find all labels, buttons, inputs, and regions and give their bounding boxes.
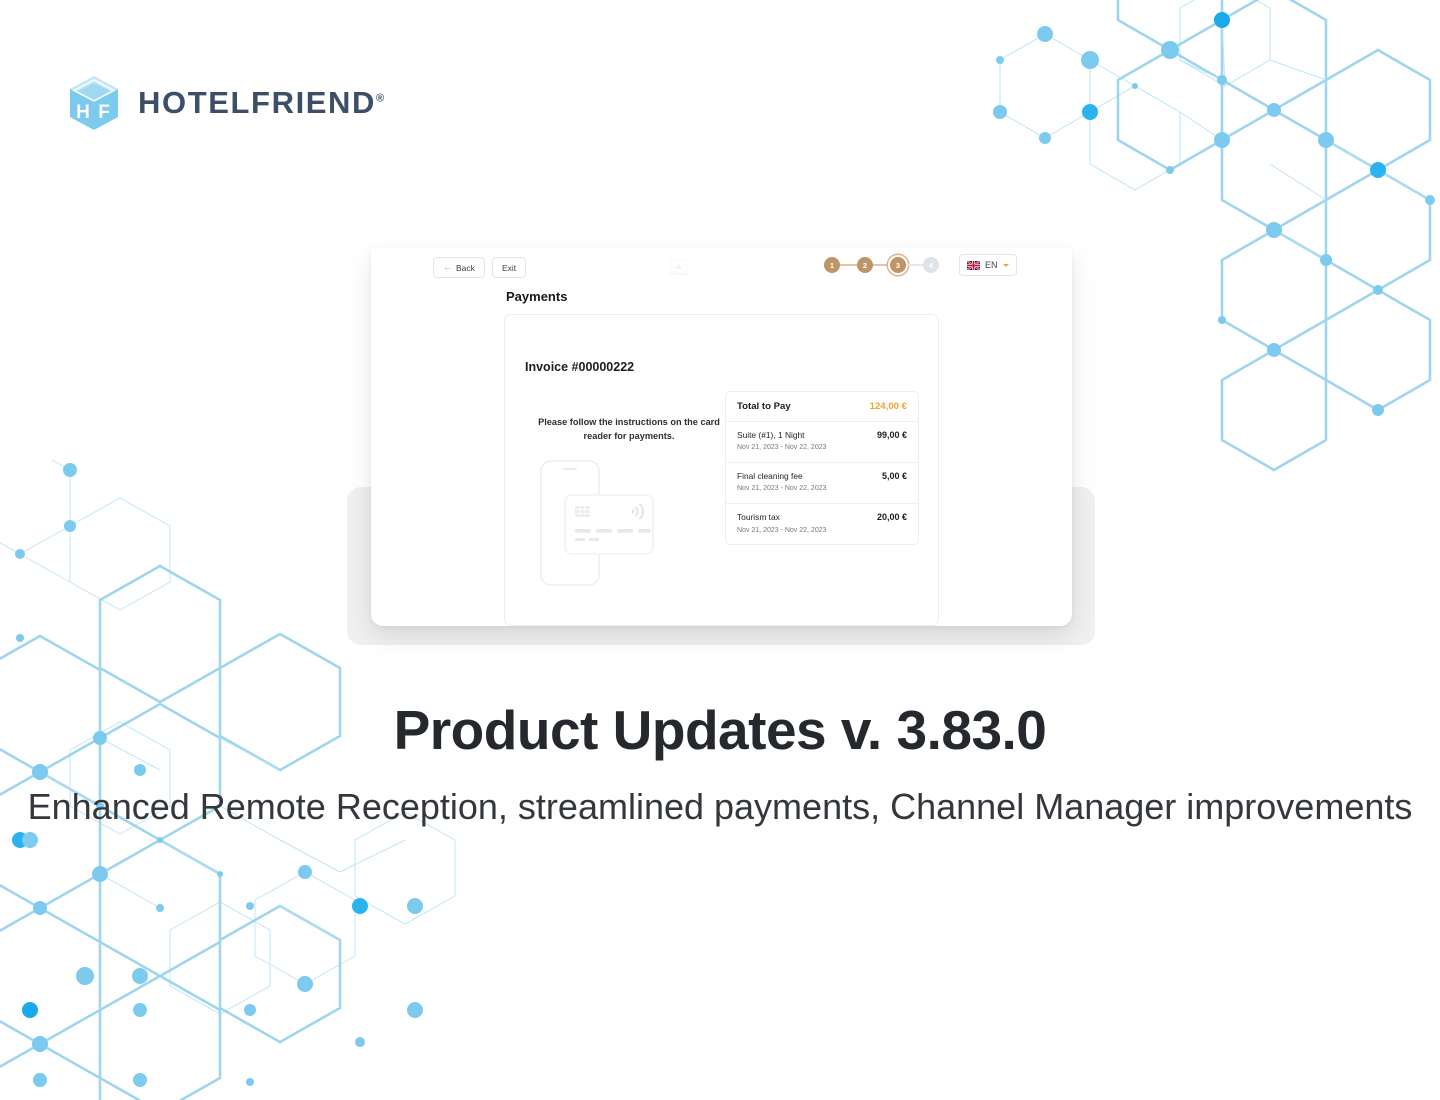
hotelfriend-cube-icon: H F bbox=[66, 74, 122, 132]
line-item-description: Final cleaning fee Nov 21, 2023 - Nov 22… bbox=[737, 471, 833, 494]
invoice-line-item: Tourism tax Nov 21, 2023 - Nov 22, 2023 … bbox=[726, 503, 918, 544]
total-to-pay-label: Total to Pay bbox=[737, 401, 791, 412]
line-item-price: 99,00 € bbox=[877, 430, 907, 440]
line-item-name: Suite (#1), 1 Night bbox=[737, 430, 827, 441]
stepper-step-1-label: 1 bbox=[830, 261, 834, 270]
arrow-left-icon: ← bbox=[443, 263, 452, 272]
brand-wordmark: HOTELFRIEND® bbox=[138, 85, 384, 121]
svg-text:H: H bbox=[76, 102, 90, 123]
line-item-dates: Nov 21, 2023 - Nov 22, 2023 bbox=[737, 484, 827, 494]
line-item-name: Tourism tax bbox=[737, 512, 827, 523]
app-toolbar: ← Back Exit 1 2 3 bbox=[371, 248, 1072, 290]
checkout-stepper: 1 2 3 4 bbox=[824, 257, 939, 273]
back-button-label: Back bbox=[456, 263, 475, 273]
stepper-step-4[interactable]: 4 bbox=[923, 257, 939, 273]
registered-mark: ® bbox=[376, 93, 384, 105]
exit-button-label: Exit bbox=[502, 263, 516, 273]
headline-block: Product Updates v. 3.83.0 Enhanced Remot… bbox=[0, 700, 1440, 830]
phone-with-contactless-card-icon bbox=[539, 457, 657, 589]
line-item-dates: Nov 21, 2023 - Nov 22, 2023 bbox=[737, 526, 827, 536]
hotelfriend-watermark-icon bbox=[667, 258, 691, 278]
line-item-dates: Nov 21, 2023 - Nov 22, 2023 bbox=[737, 443, 827, 453]
svg-text:F: F bbox=[98, 102, 110, 123]
card-reader-instructions: Please follow the instructions on the ca… bbox=[529, 415, 729, 444]
total-to-pay-amount: 124,00 € bbox=[870, 401, 907, 412]
stepper-step-2-label: 2 bbox=[863, 261, 867, 270]
page-title: Payments bbox=[506, 289, 567, 304]
stepper-connector-1 bbox=[840, 264, 857, 266]
line-item-description: Tourism tax Nov 21, 2023 - Nov 22, 2023 bbox=[737, 512, 833, 535]
line-item-price: 20,00 € bbox=[877, 512, 907, 522]
stepper-step-3-label: 3 bbox=[896, 261, 900, 270]
stepper-step-4-label: 4 bbox=[929, 261, 933, 270]
exit-button[interactable]: Exit bbox=[492, 257, 526, 278]
total-to-pay-row: Total to Pay 124,00 € bbox=[726, 392, 918, 422]
back-button[interactable]: ← Back bbox=[433, 257, 485, 278]
language-selector[interactable]: EN bbox=[959, 254, 1017, 276]
invoice-panel: Invoice #00000222 Please follow the inst… bbox=[504, 314, 939, 626]
stepper-connector-2 bbox=[873, 264, 890, 266]
release-subtitle: Enhanced Remote Reception, streamlined p… bbox=[0, 783, 1440, 831]
stepper-step-3[interactable]: 3 bbox=[890, 257, 906, 273]
stepper-step-2[interactable]: 2 bbox=[857, 257, 873, 273]
line-item-description: Suite (#1), 1 Night Nov 21, 2023 - Nov 2… bbox=[737, 430, 833, 453]
stepper-step-1[interactable]: 1 bbox=[824, 257, 840, 273]
totals-card: Total to Pay 124,00 € Suite (#1), 1 Nigh… bbox=[725, 391, 919, 545]
invoice-line-item: Final cleaning fee Nov 21, 2023 - Nov 22… bbox=[726, 462, 918, 503]
chevron-down-icon bbox=[1003, 264, 1009, 267]
line-item-price: 5,00 € bbox=[882, 471, 907, 481]
brand-wordmark-text: HOTELFRIEND bbox=[138, 85, 376, 120]
invoice-number-title: Invoice #00000222 bbox=[525, 360, 634, 374]
invoice-line-item: Suite (#1), 1 Night Nov 21, 2023 - Nov 2… bbox=[726, 422, 918, 462]
release-title: Product Updates v. 3.83.0 bbox=[0, 700, 1440, 761]
language-code-label: EN bbox=[985, 260, 998, 270]
uk-flag-icon bbox=[967, 261, 980, 270]
brand-logo: H F HOTELFRIEND® bbox=[66, 74, 384, 132]
app-screenshot-mockup: ← Back Exit 1 2 3 bbox=[371, 248, 1072, 626]
line-item-name: Final cleaning fee bbox=[737, 471, 827, 482]
slide-canvas: H F HOTELFRIEND® ← Back Exit 1 bbox=[0, 0, 1440, 1100]
stepper-connector-3 bbox=[906, 264, 923, 266]
